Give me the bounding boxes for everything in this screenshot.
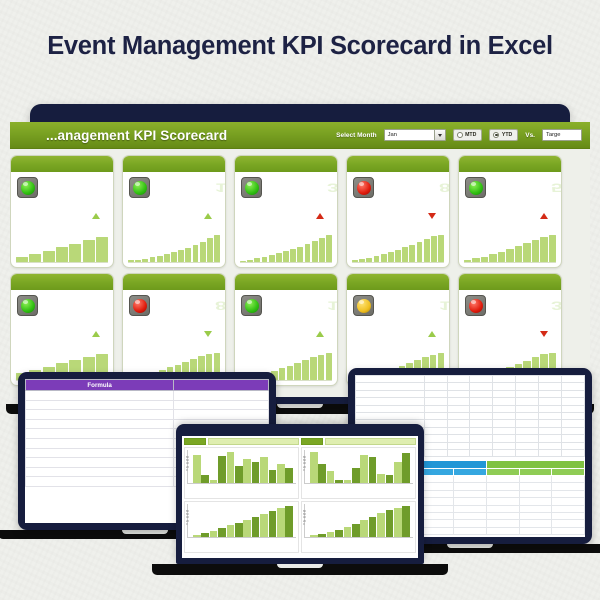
traffic-light-icon	[465, 295, 486, 316]
dashboard-header: ...anagement KPI Scorecard Select Month …	[10, 122, 590, 149]
value-cell	[421, 498, 454, 505]
sub-header-cell	[421, 468, 454, 475]
value-cell	[421, 476, 454, 483]
value-cell	[493, 435, 516, 442]
table-row	[356, 405, 585, 412]
kpi-name-cell	[356, 383, 425, 390]
kpi-card-metrics	[235, 206, 337, 219]
value-cell	[493, 442, 516, 449]
value-cell	[470, 398, 493, 405]
kpi-card-top	[123, 172, 225, 206]
value-cell	[470, 412, 493, 419]
mini-chart-grid: 806040200 806040200 806040200 806040200	[182, 447, 418, 555]
kpi-card-top	[235, 172, 337, 206]
value-cell	[454, 483, 487, 490]
laptop-notch	[277, 404, 323, 408]
kpi-card[interactable]	[346, 155, 450, 268]
kpi-card-metrics	[347, 324, 449, 337]
filter-chip-label[interactable]	[184, 438, 206, 445]
description-cell	[174, 400, 269, 410]
traffic-light-icon	[129, 177, 150, 198]
formula-cell	[26, 448, 174, 458]
kpi-dashboard-screen: ...anagement KPI Scorecard Select Month …	[10, 122, 590, 397]
value-cell	[421, 513, 454, 520]
sub-header-cell	[552, 468, 585, 475]
month-cell	[424, 376, 447, 383]
kpi-card[interactable]	[10, 155, 114, 268]
mini-chart: 806040200	[301, 501, 416, 553]
formula-cell	[26, 458, 174, 468]
value-cell	[447, 383, 470, 390]
kpi-card-top	[11, 290, 113, 324]
chart-screen: 806040200 806040200 806040200 806040200	[182, 430, 418, 558]
value-cell	[539, 435, 562, 442]
kpi-card-top	[459, 290, 561, 324]
chart-filter-strip	[182, 436, 418, 447]
kpi-card-metrics	[11, 206, 113, 219]
value-cell	[539, 427, 562, 434]
value-cell	[493, 383, 516, 390]
kpi-delta	[127, 331, 217, 337]
value-cell	[454, 527, 487, 534]
value-cell	[470, 390, 493, 397]
value-cell	[516, 442, 539, 449]
value-cell	[552, 483, 585, 490]
value-cell	[447, 390, 470, 397]
value-cell	[486, 513, 519, 520]
description-cell	[174, 391, 269, 401]
kpi-card-top	[347, 290, 449, 324]
value-cell	[470, 435, 493, 442]
value-cell	[454, 498, 487, 505]
value-cell	[539, 405, 562, 412]
kpi-delta	[351, 213, 441, 219]
value-cell	[562, 383, 585, 390]
kpi-card-metrics	[459, 324, 561, 337]
trend-arrow-icon	[204, 331, 212, 337]
value-cell	[470, 376, 493, 383]
value-cell	[519, 513, 552, 520]
value-cell	[519, 520, 552, 527]
value-cell	[421, 483, 454, 490]
month-cell	[424, 449, 447, 456]
dashboard-controls: Select Month Jan MTD YTD Vs. Targe	[336, 129, 582, 141]
value-cell	[516, 383, 539, 390]
y-axis-ticks: 806040200	[186, 456, 189, 472]
value-cell	[519, 498, 552, 505]
formula-cell	[26, 438, 174, 448]
value-cell	[539, 383, 562, 390]
select-month-label: Select Month	[336, 132, 376, 139]
value-cell	[470, 427, 493, 434]
value-cell	[454, 513, 487, 520]
kpi-card-metrics	[347, 206, 449, 219]
kpi-card[interactable]	[458, 155, 562, 268]
kpi-card-title	[459, 274, 561, 290]
kpi-card-title	[459, 156, 561, 172]
traffic-light-icon	[129, 295, 150, 316]
kpi-card[interactable]	[122, 273, 226, 386]
value-cell	[539, 420, 562, 427]
value-cell	[470, 383, 493, 390]
value-cell	[516, 398, 539, 405]
value-cell	[552, 520, 585, 527]
laptop-notch	[277, 564, 323, 568]
formula-cell	[26, 400, 174, 410]
value-cell	[421, 520, 454, 527]
main-laptop-frame: ...anagement KPI Scorecard Select Month …	[30, 104, 570, 404]
table-row	[26, 410, 269, 420]
value-cell	[552, 513, 585, 520]
trend-arrow-icon	[92, 213, 100, 219]
value-cell	[447, 435, 470, 442]
value-cell	[493, 412, 516, 419]
kpi-delta	[15, 331, 105, 337]
mini-chart: 806040200	[301, 447, 416, 499]
formula-cell	[26, 419, 174, 429]
value-cell	[539, 376, 562, 383]
value-cell	[519, 483, 552, 490]
y-axis-ticks: 806040200	[303, 456, 306, 472]
kpi-card-metrics	[123, 324, 225, 337]
month-cell	[424, 390, 447, 397]
mini-chart-plot	[304, 504, 413, 538]
y-axis-ticks: 806040200	[186, 510, 189, 526]
traffic-light-icon	[241, 177, 262, 198]
month-cell	[424, 383, 447, 390]
mtd-radio[interactable]: MTD	[453, 129, 483, 141]
value-cell	[552, 498, 585, 505]
description-col-header	[174, 380, 269, 391]
value-cell	[447, 412, 470, 419]
kpi-card-title	[347, 274, 449, 290]
value-cell	[552, 527, 585, 534]
formula-cell	[26, 477, 174, 487]
formula-cell	[26, 467, 174, 477]
value-cell	[447, 376, 470, 383]
radio-icon-ytd	[493, 132, 499, 138]
mini-chart: 806040200	[184, 447, 299, 499]
traffic-light-icon	[17, 295, 38, 316]
value-cell	[562, 412, 585, 419]
kpi-delta	[127, 213, 217, 219]
kpi-name-cell	[356, 376, 425, 383]
table-row	[356, 398, 585, 405]
value-cell	[493, 420, 516, 427]
value-cell	[562, 376, 585, 383]
kpi-card[interactable]	[10, 273, 114, 386]
mini-chart: 806040200	[184, 501, 299, 553]
laptop-notch	[447, 544, 493, 548]
kpi-row-1	[10, 155, 590, 268]
kpi-card-title	[11, 274, 113, 290]
trend-arrow-icon	[428, 331, 436, 337]
value-cell	[447, 427, 470, 434]
value-cell	[421, 505, 454, 512]
kpi-delta	[15, 213, 105, 219]
dashboard-title: ...anagement KPI Scorecard	[46, 128, 227, 143]
table-row	[356, 412, 585, 419]
value-cell	[562, 442, 585, 449]
value-cell	[486, 505, 519, 512]
value-cell	[493, 405, 516, 412]
value-cell	[562, 405, 585, 412]
kpi-card-metrics	[123, 206, 225, 219]
vs-select-value: Targe	[543, 132, 561, 138]
kpi-name-cell	[356, 398, 425, 405]
kpi-delta	[239, 331, 329, 337]
value-cell	[516, 412, 539, 419]
vs-label: Vs.	[525, 132, 535, 139]
value-cell	[562, 449, 585, 456]
value-cell	[486, 498, 519, 505]
trend-arrow-icon	[92, 331, 100, 337]
formula-col-header: Formula	[26, 380, 174, 391]
kpi-card-title	[235, 156, 337, 172]
page-title: Event Management KPI Scorecard in Excel	[0, 30, 600, 63]
trend-arrow-icon	[316, 331, 324, 337]
value-cell	[539, 398, 562, 405]
filter-chip-value[interactable]	[208, 438, 299, 445]
kpi-card-metrics	[235, 324, 337, 337]
value-cell	[470, 449, 493, 456]
value-cell	[539, 449, 562, 456]
trend-arrow-icon	[540, 331, 548, 337]
value-cell	[470, 442, 493, 449]
value-cell	[552, 505, 585, 512]
trend-arrow-icon	[316, 213, 324, 219]
laptop-notch	[122, 530, 168, 534]
value-cell	[562, 420, 585, 427]
value-cell	[454, 505, 487, 512]
kpi-card-metrics	[11, 324, 113, 337]
vs-select[interactable]: Targe	[542, 129, 582, 141]
value-cell	[447, 420, 470, 427]
value-cell	[493, 427, 516, 434]
value-cell	[447, 449, 470, 456]
table-row	[356, 390, 585, 397]
value-cell	[552, 490, 585, 497]
mini-chart-plot	[187, 504, 296, 538]
trend-arrow-icon	[204, 213, 212, 219]
value-cell	[539, 412, 562, 419]
value-cell	[562, 398, 585, 405]
traffic-light-icon	[241, 295, 262, 316]
value-cell	[516, 376, 539, 383]
value-cell	[552, 476, 585, 483]
formula-cell	[26, 391, 174, 401]
kpi-card-top	[235, 290, 337, 324]
value-cell	[516, 420, 539, 427]
value-cell	[519, 476, 552, 483]
value-cell	[516, 390, 539, 397]
kpi-card-top	[459, 172, 561, 206]
ytd-radio[interactable]: YTD	[489, 129, 518, 141]
table-row	[356, 376, 585, 383]
kpi-card-top	[11, 172, 113, 206]
sub-header-cell	[519, 468, 552, 475]
description-cell	[174, 410, 269, 420]
kpi-grid	[10, 149, 590, 386]
kpi-sparkline	[240, 235, 332, 263]
formula-cell	[26, 429, 174, 439]
chevron-down-icon[interactable]	[434, 130, 445, 140]
trend-arrow-icon	[428, 213, 436, 219]
traffic-light-icon	[17, 177, 38, 198]
kpi-card-top	[347, 172, 449, 206]
y-axis-ticks: 806040200	[303, 510, 306, 526]
value-cell	[519, 505, 552, 512]
kpi-sparkline	[16, 235, 108, 263]
kpi-sparkline	[352, 235, 444, 263]
value-cell	[519, 527, 552, 534]
value-cell	[519, 490, 552, 497]
value-cell	[470, 405, 493, 412]
mini-chart-plot	[304, 450, 413, 484]
traffic-light-icon	[353, 177, 374, 198]
ytd-group-header	[486, 461, 584, 468]
month-cell	[424, 405, 447, 412]
value-cell	[562, 435, 585, 442]
kpi-card-top	[123, 290, 225, 324]
value-cell	[454, 490, 487, 497]
value-cell	[486, 476, 519, 483]
kpi-card-title	[123, 274, 225, 290]
traffic-light-icon	[353, 295, 374, 316]
value-cell	[486, 490, 519, 497]
formula-cell	[26, 410, 174, 420]
kpi-delta	[351, 331, 441, 337]
value-cell	[516, 435, 539, 442]
sub-header-cell	[454, 468, 487, 475]
value-cell	[516, 427, 539, 434]
value-cell	[516, 449, 539, 456]
kpi-card[interactable]	[234, 273, 338, 386]
trend-arrow-icon	[540, 213, 548, 219]
ytd-label: YTD	[502, 132, 512, 138]
month-cell	[424, 427, 447, 434]
value-cell	[539, 442, 562, 449]
table-row	[356, 383, 585, 390]
value-cell	[454, 476, 487, 483]
traffic-light-icon	[465, 177, 486, 198]
month-cell	[424, 398, 447, 405]
month-select[interactable]: Jan	[384, 129, 446, 141]
value-cell	[493, 376, 516, 383]
chart-laptop-base	[152, 564, 448, 575]
value-cell	[447, 442, 470, 449]
sub-header-cell	[486, 468, 519, 475]
kpi-delta	[463, 331, 553, 337]
kpi-card-title	[11, 156, 113, 172]
kpi-delta	[239, 213, 329, 219]
value-cell	[493, 390, 516, 397]
table-row	[26, 391, 269, 401]
month-cell	[424, 420, 447, 427]
month-cell	[424, 435, 447, 442]
kpi-card[interactable]	[122, 155, 226, 268]
value-cell	[454, 520, 487, 527]
filter-chip-value-2[interactable]	[325, 438, 416, 445]
value-cell	[493, 398, 516, 405]
kpi-card-title	[235, 274, 337, 290]
month-select-value: Jan	[385, 132, 397, 138]
value-cell	[539, 390, 562, 397]
chart-laptop-frame: 806040200 806040200 806040200 806040200	[176, 424, 424, 564]
value-cell	[486, 483, 519, 490]
kpi-delta	[463, 213, 553, 219]
kpi-card-title	[347, 156, 449, 172]
kpi-card-title	[123, 156, 225, 172]
month-cell	[424, 442, 447, 449]
kpi-name-cell	[356, 405, 425, 412]
kpi-name-cell	[356, 390, 425, 397]
value-cell	[516, 405, 539, 412]
value-cell	[486, 527, 519, 534]
kpi-card-metrics	[459, 206, 561, 219]
value-cell	[470, 420, 493, 427]
mini-chart-plot	[187, 450, 296, 484]
kpi-name-cell	[356, 412, 425, 419]
kpi-sparkline	[128, 235, 220, 263]
value-cell	[447, 398, 470, 405]
filter-chip-label-2[interactable]	[301, 438, 323, 445]
value-cell	[421, 490, 454, 497]
kpi-card[interactable]	[234, 155, 338, 268]
value-cell	[562, 427, 585, 434]
value-cell	[421, 527, 454, 534]
value-cell	[562, 390, 585, 397]
kpi-sparkline	[464, 235, 556, 263]
value-cell	[493, 449, 516, 456]
radio-icon-mtd	[457, 132, 463, 138]
month-cell	[424, 412, 447, 419]
value-cell	[447, 405, 470, 412]
value-cell	[486, 520, 519, 527]
table-row	[26, 400, 269, 410]
mtd-label: MTD	[465, 132, 476, 138]
